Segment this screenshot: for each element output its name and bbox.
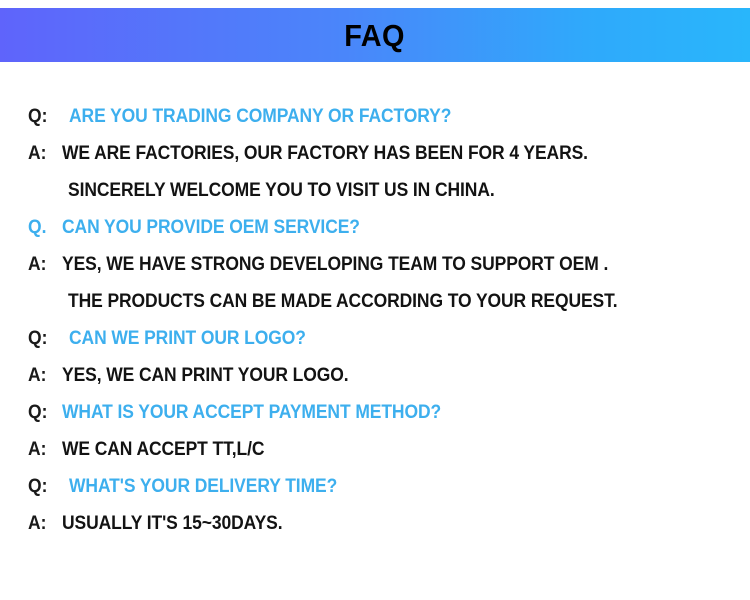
- answer-text: THE PRODUCTS CAN BE MADE ACCORDING TO YO…: [68, 291, 618, 313]
- answer-prefix: A:: [28, 365, 59, 387]
- faq-page: FAQ Q:ARE YOU TRADING COMPANY OR FACTORY…: [0, 0, 750, 600]
- answer-prefix: A:: [28, 254, 59, 276]
- faq-answer-line: A:YES, WE CAN PRINT YOUR LOGO.: [0, 357, 750, 394]
- question-text: WHAT'S YOUR DELIVERY TIME?: [69, 476, 337, 498]
- question-prefix: Q:: [28, 328, 59, 350]
- answer-prefix: A:: [28, 513, 59, 535]
- answer-text: WE ARE FACTORIES, OUR FACTORY HAS BEEN F…: [62, 143, 588, 165]
- answer-text: WE CAN ACCEPT TT,L/C: [62, 439, 264, 461]
- faq-question-line: Q:WHAT IS YOUR ACCEPT PAYMENT METHOD?: [0, 394, 750, 431]
- question-prefix: Q:: [28, 402, 59, 424]
- faq-question-line: Q:WHAT'S YOUR DELIVERY TIME?: [0, 468, 750, 505]
- answer-text: YES, WE CAN PRINT YOUR LOGO.: [62, 365, 349, 387]
- answer-text: USUALLY IT'S 15~30DAYS.: [62, 513, 282, 535]
- answer-prefix: A:: [28, 439, 59, 461]
- faq-header-banner: FAQ: [0, 8, 750, 62]
- faq-answer-line: A:USUALLY IT'S 15~30DAYS.: [0, 505, 750, 542]
- faq-answer-line: A:WE CAN ACCEPT TT,L/C: [0, 431, 750, 468]
- faq-question-line: Q:ARE YOU TRADING COMPANY OR FACTORY?: [0, 98, 750, 135]
- question-text: ARE YOU TRADING COMPANY OR FACTORY?: [69, 106, 451, 128]
- question-text: CAN YOU PROVIDE OEM SERVICE?: [62, 217, 360, 239]
- page-title: FAQ: [345, 20, 406, 51]
- faq-question-line: Q.CAN YOU PROVIDE OEM SERVICE?: [0, 209, 750, 246]
- faq-question-line: Q:CAN WE PRINT OUR LOGO?: [0, 320, 750, 357]
- question-prefix: Q:: [28, 476, 59, 498]
- answer-text: YES, WE HAVE STRONG DEVELOPING TEAM TO S…: [62, 254, 608, 276]
- question-prefix: Q:: [28, 106, 59, 128]
- faq-answer-line: A:WE ARE FACTORIES, OUR FACTORY HAS BEEN…: [0, 135, 750, 172]
- answer-text: SINCERELY WELCOME YOU TO VISIT US IN CHI…: [68, 180, 495, 202]
- faq-answer-continuation-line: SINCERELY WELCOME YOU TO VISIT US IN CHI…: [0, 172, 750, 209]
- answer-prefix: A:: [28, 143, 59, 165]
- faq-answer-continuation-line: THE PRODUCTS CAN BE MADE ACCORDING TO YO…: [0, 283, 750, 320]
- question-text: CAN WE PRINT OUR LOGO?: [69, 328, 306, 350]
- question-text: WHAT IS YOUR ACCEPT PAYMENT METHOD?: [62, 402, 441, 424]
- question-prefix: Q.: [28, 217, 59, 239]
- faq-list: Q:ARE YOU TRADING COMPANY OR FACTORY?A:W…: [0, 98, 750, 542]
- faq-answer-line: A:YES, WE HAVE STRONG DEVELOPING TEAM TO…: [0, 246, 750, 283]
